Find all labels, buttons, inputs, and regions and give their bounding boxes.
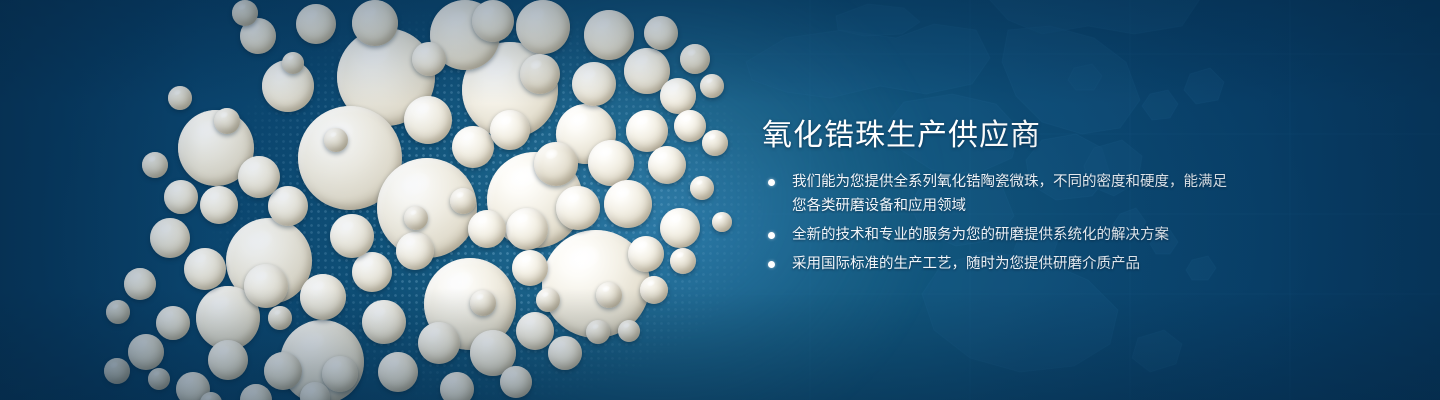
background-vignette bbox=[0, 0, 1440, 400]
hero-banner: 氧化锆珠生产供应商 我们能为您提供全系列氧化锆陶瓷微珠，不同的密度和硬度，能满足… bbox=[0, 0, 1440, 400]
